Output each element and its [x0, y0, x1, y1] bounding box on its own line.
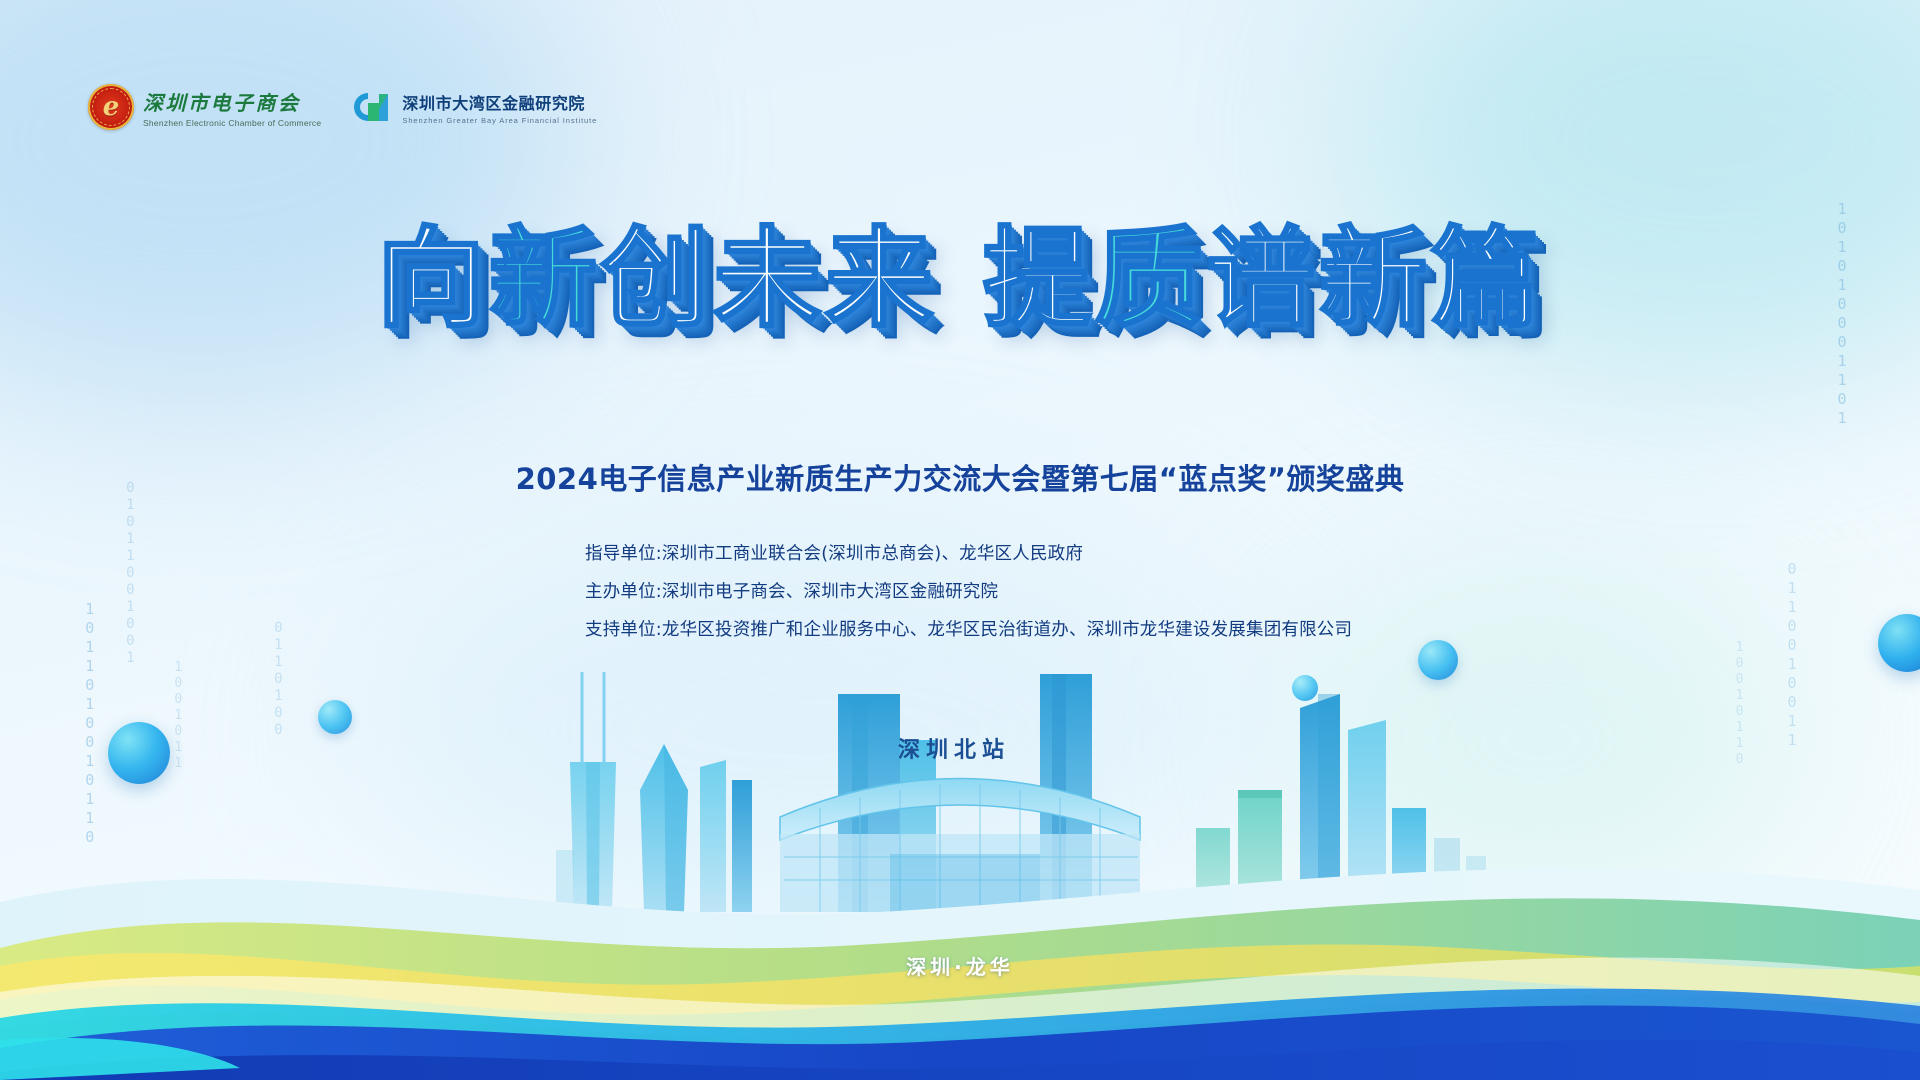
headline-char-6: 提 — [983, 222, 1095, 339]
organizer-line-guidance: 指导单位:深圳市工商业联合会(深圳市总商会)、龙华区人民政府 — [585, 540, 1352, 565]
gbi-name-en: Shenzhen Greater Bay Area Financial Inst… — [402, 116, 597, 125]
headline-char-2: 新 — [489, 222, 601, 339]
page-title: 向新创未来提质谱新篇 — [0, 222, 1920, 339]
gbi-logo-text: 深圳市大湾区金融研究院 Shenzhen Greater Bay Area Fi… — [402, 90, 597, 125]
chamber-seal-icon: e — [88, 84, 134, 130]
headline-char-4: 未 — [713, 222, 825, 339]
chamber-name-en: Shenzhen Electronic Chamber of Commerce — [143, 118, 321, 128]
headline-char-5: 来 — [825, 222, 937, 339]
wave-footer-illustration — [0, 780, 1920, 1080]
chamber-logo-text: 深圳市电子商会 Shenzhen Electronic Chamber of C… — [143, 87, 321, 128]
headline-char-7: 质 — [1095, 222, 1207, 339]
headline-char-1: 向 — [377, 222, 489, 339]
event-subtitle: 2024电子信息产业新质生产力交流大会暨第七届“蓝点奖”颁奖盛典 — [0, 456, 1920, 498]
headline-char-8: 谱 — [1207, 222, 1319, 339]
chamber-name-cn: 深圳市电子商会 — [143, 87, 321, 116]
logo-shenzhen-greater-bay-area-financial-institute: 深圳市大湾区金融研究院 Shenzhen Greater Bay Area Fi… — [349, 90, 597, 125]
headline-char-9: 新 — [1319, 222, 1431, 339]
organizer-line-host: 主办单位:深圳市电子商会、深圳市大湾区金融研究院 — [585, 578, 1352, 603]
headline-char-3: 创 — [601, 222, 713, 339]
conference-banner: 1011010010110 01011001001 1001011 011010… — [0, 0, 1920, 1080]
gbi-mark-icon — [349, 90, 393, 124]
seal-letter-e: e — [88, 84, 134, 130]
logo-bar: e 深圳市电子商会 Shenzhen Electronic Chamber of… — [88, 84, 597, 130]
gbi-name-cn: 深圳市大湾区金融研究院 — [402, 90, 597, 114]
headline-group-1: 向新创未来提质谱新篇 — [377, 222, 1543, 339]
location-label: 深圳·龙华 — [0, 951, 1920, 980]
station-label: 深圳北站 — [898, 732, 1010, 764]
logo-shenzhen-electronic-chamber-of-commerce: e 深圳市电子商会 Shenzhen Electronic Chamber of… — [88, 84, 321, 130]
headline-char-10: 篇 — [1431, 222, 1543, 339]
